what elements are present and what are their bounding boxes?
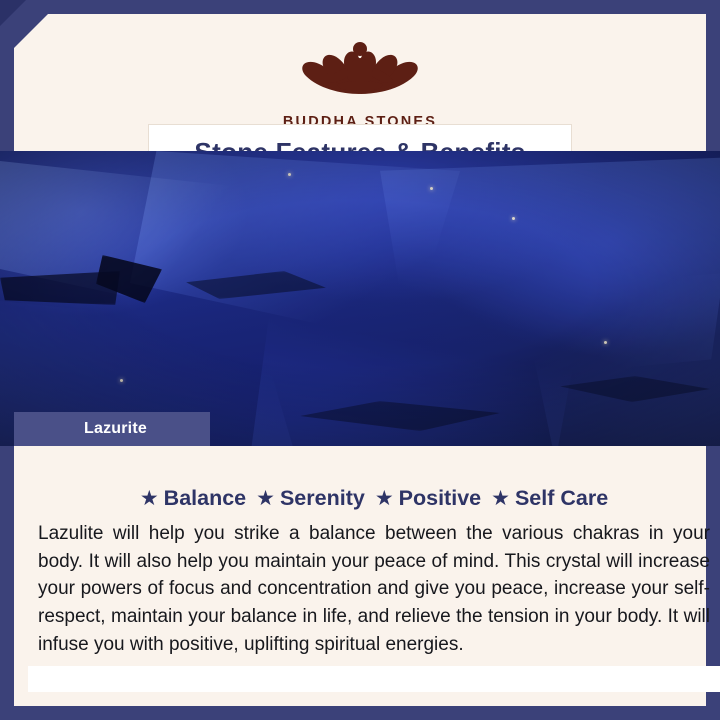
lotus-meditation-icon bbox=[280, 32, 440, 110]
benefit-item-self-care: ★ Self Care bbox=[491, 486, 608, 511]
benefit-item-positive: ★ Positive bbox=[375, 486, 481, 511]
benefit-label: Serenity bbox=[280, 486, 365, 511]
infographic-page: BUDDHA STONES Stone Features & Benefits … bbox=[0, 0, 720, 720]
star-icon: ★ bbox=[375, 488, 394, 509]
benefit-label: Positive bbox=[399, 486, 481, 511]
star-icon: ★ bbox=[491, 488, 510, 509]
stone-photo-texture bbox=[0, 151, 720, 446]
photo-vignette bbox=[0, 151, 720, 446]
stone-name-label: Lazurite bbox=[84, 420, 147, 438]
benefit-item-serenity: ★ Serenity bbox=[256, 486, 365, 511]
brand-logo-block: BUDDHA STONES bbox=[14, 32, 706, 130]
stone-name-tab: Lazurite bbox=[14, 412, 210, 446]
star-icon: ★ bbox=[140, 488, 159, 509]
benefit-item-balance: ★ Balance bbox=[140, 486, 246, 511]
bottom-white-strip bbox=[28, 666, 720, 692]
description-text: Lazulite will help you strike a balance … bbox=[38, 520, 710, 659]
benefit-label: Balance bbox=[164, 486, 246, 511]
star-icon: ★ bbox=[256, 488, 275, 509]
benefits-row: ★ Balance ★ Serenity ★ Positive ★ Self C… bbox=[28, 486, 720, 511]
benefit-label: Self Care bbox=[515, 486, 608, 511]
stone-photo: Lazurite bbox=[0, 151, 720, 446]
